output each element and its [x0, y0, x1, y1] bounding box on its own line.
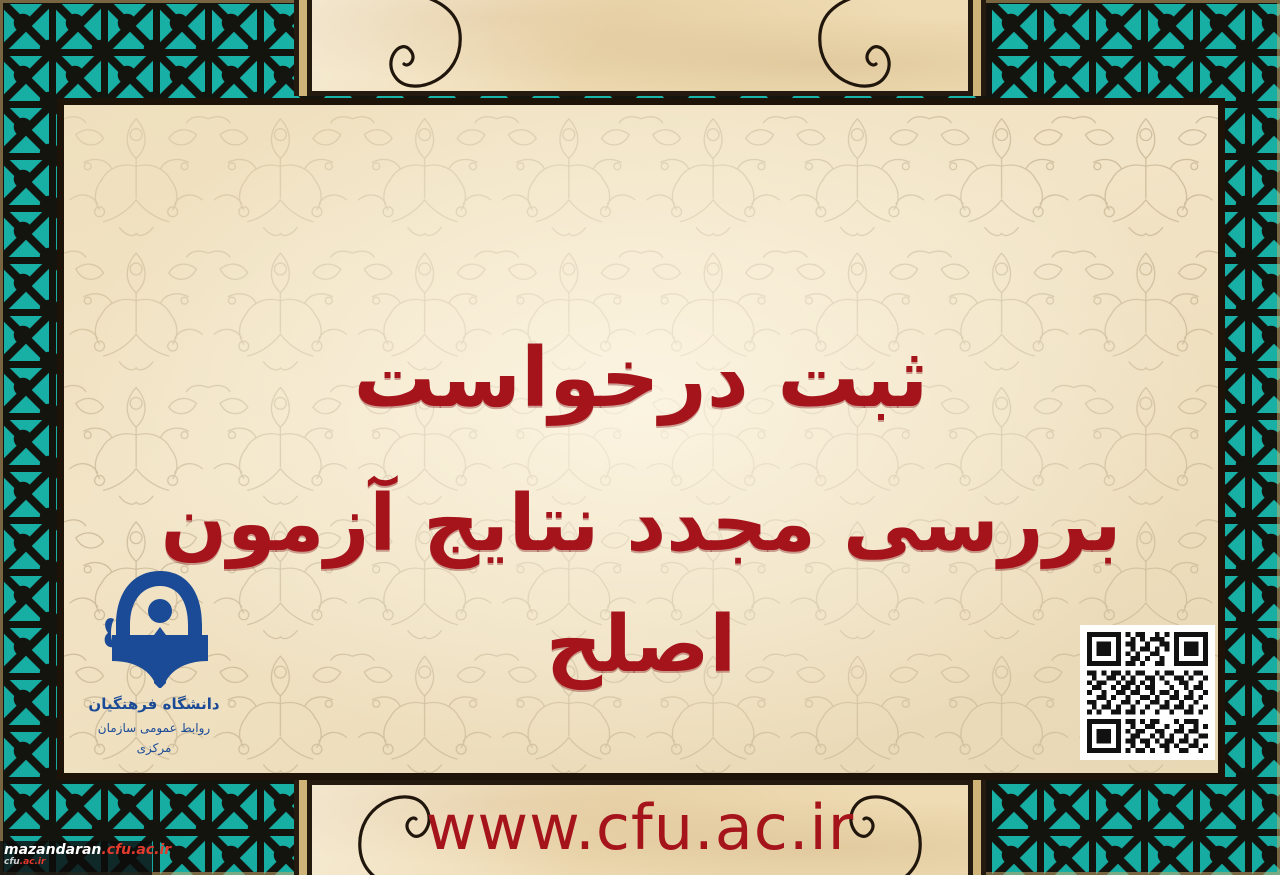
- bottom-stripe-right: [968, 780, 986, 875]
- bottom-cream-panel: [294, 780, 986, 875]
- university-logo: دانشگاه فرهنگیان روابط عمومی سازمان مرکز…: [79, 563, 229, 768]
- watermark-domain-suffix: .cfu.ac.ir: [101, 842, 171, 858]
- logo-department: روابط عمومی سازمان مرکزی: [79, 718, 229, 759]
- open-book-arch-icon: [94, 563, 214, 688]
- scroll-flourish-right-icon: [792, 0, 932, 98]
- logo-text: دانشگاه فرهنگیان روابط عمومی سازمان مرکز…: [79, 692, 229, 758]
- qr-code-image: [1087, 632, 1208, 753]
- watermark-short: cfu: [4, 857, 20, 867]
- watermark-short-suffix: .ac.ir: [20, 857, 46, 867]
- logo-university-name: دانشگاه فرهنگیان: [79, 692, 229, 718]
- bottom-stripe-left: [294, 780, 312, 875]
- floral-damask-texture: [64, 105, 1218, 779]
- scroll-flourish-bottom-left-icon: [334, 791, 484, 875]
- top-cream-panel: [294, 0, 986, 96]
- inner-panel: ثبت درخواست بررسی مجدد نتایج آزمون اصلح …: [57, 98, 1225, 780]
- poster: ثبت درخواست بررسی مجدد نتایج آزمون اصلح …: [0, 0, 1280, 875]
- watermark-line-1: mazandaran.cfu.ac.ir: [4, 843, 148, 858]
- qr-code[interactable]: [1080, 625, 1215, 760]
- scroll-flourish-bottom-right-icon: [796, 791, 946, 875]
- top-stripe-left: [294, 0, 312, 96]
- scroll-flourish-left-icon: [348, 0, 488, 98]
- site-watermark: mazandaran.cfu.ac.ir cfu.ac.ir: [0, 841, 152, 875]
- watermark-domain: mazandaran: [4, 842, 101, 858]
- top-stripe-right: [968, 0, 986, 96]
- watermark-line-2: cfu.ac.ir: [4, 858, 148, 867]
